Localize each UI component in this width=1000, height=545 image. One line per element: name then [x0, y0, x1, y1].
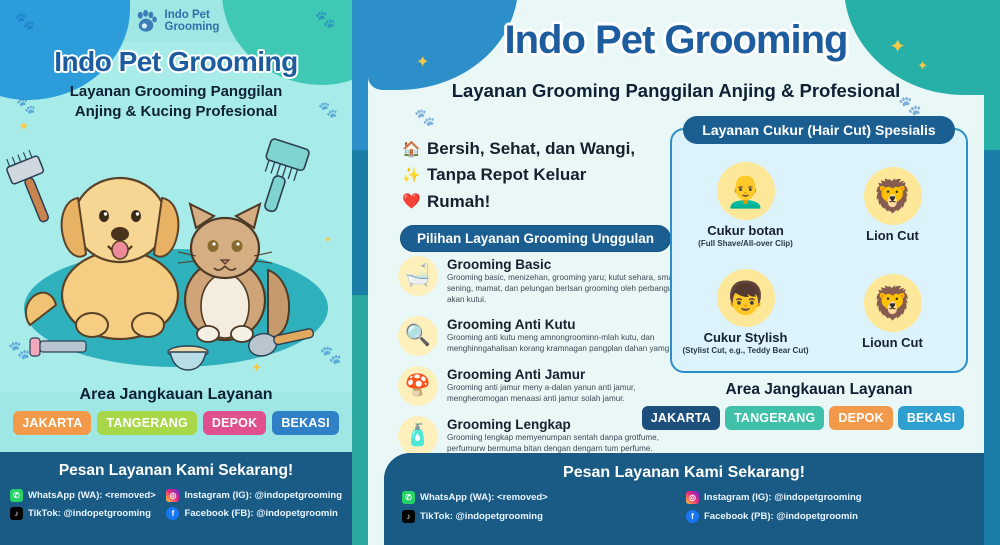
brand-logo: Indo Pet Grooming [0, 8, 352, 34]
poster-root: ✦ ✦ ✦ ✦ ✦ ✦ 🐾 🐾 🐾 🐾 🐾 🐾 Indo Pe [0, 0, 1000, 545]
tagline-text: Rumah! [427, 189, 490, 215]
services-pill-header: Pilihan Layanan Grooming Unggulan [400, 225, 671, 252]
service-description: Grooming anti jamur meny a-dalan yanun a… [447, 383, 698, 405]
tagline-row: ❤️Rumah! [402, 189, 702, 215]
area-badge-tangerang[interactable]: TANGERANG [725, 406, 824, 430]
lion-icon: 🦁 [864, 167, 922, 225]
social-link-label: Instagram (IG): @indopetgrooming [184, 490, 342, 501]
facebook-icon: f [686, 510, 699, 523]
area-badge-jakarta[interactable]: JAKARTA [642, 406, 720, 430]
haircut-item[interactable]: 🦁Lioun Cut [819, 259, 966, 366]
right-area-title: Area Jangkauan Layanan [670, 381, 968, 399]
service-description: Grooming anti kutu meng amnongroominn-ml… [447, 333, 698, 355]
area-badge-depok[interactable]: DEPOK [829, 406, 892, 430]
left-subtitle-line1: Layanan Grooming Panggilan [70, 83, 283, 100]
service-name: Grooming Basic [447, 257, 698, 272]
left-footer-title: Pesan Layanan Kami Sekarang! [0, 462, 352, 480]
instagram-icon: ◎ [166, 489, 179, 502]
right-tagline: 🏠Bersih, Sehat, dan Wangi,✨Tanpa Repot K… [402, 136, 702, 215]
tabby-cat-illustration [178, 204, 289, 342]
pets-illustration [0, 120, 352, 375]
social-link[interactable]: fFacebook (FB): @indopetgroomin [166, 507, 342, 520]
services-list: 🛁Grooming BasicGrooming basic, menizehan… [398, 256, 698, 466]
haircut-item-note: (Stylist Cut, e.g., Teddy Bear Cut) [682, 346, 808, 355]
right-social-links: ✆WhatsApp (WA): <removed>◎Instagram (IG)… [384, 491, 984, 523]
instagram-icon: ◎ [686, 491, 699, 504]
social-link[interactable]: fFacebook (PB): @indopetgroomin [686, 510, 966, 523]
tagline-row: 🏠Bersih, Sehat, dan Wangi, [402, 136, 702, 162]
tagline-text: Tanpa Repot Keluar [427, 162, 586, 188]
brand-logo-line2: Grooming [165, 21, 220, 33]
area-badge-depok[interactable]: DEPOK [203, 411, 266, 435]
social-link-label: Instagram (IG): @indopetgrooming [704, 492, 862, 503]
area-badge-bekasi[interactable]: BEKASI [272, 411, 338, 435]
house-icon: 🏠 [402, 138, 420, 161]
left-poster-panel: ✦ ✦ ✦ ✦ ✦ ✦ 🐾 🐾 🐾 🐾 🐾 🐾 Indo Pe [0, 0, 352, 545]
haircut-item-name: Cukur botan [707, 223, 784, 238]
haircut-item[interactable]: 👨‍🦲Cukur botan(Full Shave/All-over Clip) [672, 152, 819, 259]
social-link-label: Facebook (FB): @indopetgroomin [184, 508, 337, 519]
sparkles-icon: ✨ [402, 164, 420, 187]
pet-bowl-icon [168, 346, 208, 370]
service-name: Grooming Anti Jamur [447, 367, 698, 382]
whatsapp-icon: ✆ [10, 489, 23, 502]
area-badge-jakarta[interactable]: JAKARTA [13, 411, 91, 435]
paw-print-icon: 🐾 [414, 108, 435, 128]
tiktok-icon: ♪ [402, 510, 415, 523]
left-panel-title: Indo Pet Grooming [0, 46, 352, 78]
left-area-badges: JAKARTATANGERANGDEPOKBEKASI [0, 411, 352, 435]
right-poster-panel: ✦ ✦ ✦ 🐾 🐾 🐾 Indo Pet Grooming Layanan Gr… [352, 0, 1000, 545]
service-item[interactable]: 🍄Grooming Anti JamurGrooming anti jamur … [398, 366, 698, 406]
brush-icon [3, 148, 61, 227]
tiktok-icon: ♪ [10, 507, 23, 520]
social-link-label: TikTok: @indopetgrooming [420, 511, 543, 522]
service-description: Grooming lengkap memyenumpan sentah danp… [447, 433, 698, 455]
right-footer: Pesan Layanan Kami Sekarang! ✆WhatsApp (… [384, 453, 984, 545]
left-social-links: ✆WhatsApp (WA): <removed>◎Instagram (IG)… [0, 489, 352, 520]
whatsapp-icon: ✆ [402, 491, 415, 504]
haircut-item[interactable]: 👦Cukur Stylish(Stylist Cut, e.g., Teddy … [672, 259, 819, 366]
social-link-label: WhatsApp (WA): <removed> [420, 492, 548, 503]
brush-perfume-icon: 🧴 [398, 416, 438, 456]
social-link-label: WhatsApp (WA): <removed> [28, 490, 156, 501]
tagline-text: Bersih, Sehat, dan Wangi, [427, 136, 635, 162]
social-link[interactable]: ✆WhatsApp (WA): <removed> [10, 489, 162, 502]
left-footer: Pesan Layanan Kami Sekarang! ✆WhatsApp (… [0, 452, 352, 545]
haircut-item-name: Lioun Cut [862, 335, 923, 350]
right-content-card: ✦ ✦ ✦ 🐾 🐾 🐾 Indo Pet Grooming Layanan Gr… [368, 0, 984, 545]
tagline-row: ✨Tanpa Repot Keluar [402, 162, 702, 188]
heart-icon: ❤️ [402, 190, 420, 213]
service-item[interactable]: 🔍Grooming Anti KutuGrooming anti kutu me… [398, 316, 698, 356]
right-panel-subtitle: Layanan Grooming Panggilan Anjing & Prof… [368, 80, 984, 102]
area-badge-bekasi[interactable]: BEKASI [898, 406, 964, 430]
bald-head-icon: 👨‍🦲 [717, 162, 775, 220]
grooming-comb-icon [30, 338, 86, 356]
service-description: Grooming basic, menizehan, grooming yaru… [447, 273, 698, 306]
right-panel-title: Indo Pet Grooming [368, 18, 984, 63]
social-link-label: Facebook (PB): @indopetgroomin [704, 511, 858, 522]
social-link[interactable]: ♪TikTok: @indopetgrooming [10, 507, 162, 520]
bathtub-icon: 🛁 [398, 256, 438, 296]
service-name: Grooming Anti Kutu [447, 317, 698, 332]
right-footer-title: Pesan Layanan Kami Sekarang! [384, 464, 984, 482]
brand-logo-text: Indo Pet Grooming [165, 9, 220, 33]
social-link[interactable]: ♪TikTok: @indopetgrooming [402, 510, 682, 523]
haircut-specialist-card: Layanan Cukur (Hair Cut) Spesialis 👨‍🦲Cu… [670, 128, 968, 373]
mushroom-icon: 🍄 [398, 366, 438, 406]
right-area-badges: JAKARTATANGERANGDEPOKBEKASI [638, 406, 968, 430]
social-link[interactable]: ◎Instagram (IG): @indopetgrooming [686, 491, 966, 504]
brand-logo-line1: Indo Pet [165, 9, 210, 21]
social-link[interactable]: ◎Instagram (IG): @indopetgrooming [166, 489, 342, 502]
haircut-items-grid: 👨‍🦲Cukur botan(Full Shave/All-over Clip)… [672, 152, 966, 365]
haircut-item-note: (Full Shave/All-over Clip) [698, 239, 793, 248]
left-subtitle-line2: Anjing & Kucing Profesional [75, 103, 278, 120]
social-link-label: TikTok: @indopetgrooming [28, 508, 151, 519]
left-area-title: Area Jangkauan Layanan [0, 386, 352, 404]
magnifier-flea-icon: 🔍 [398, 316, 438, 356]
social-link[interactable]: ✆WhatsApp (WA): <removed> [402, 491, 682, 504]
haircut-item[interactable]: 🦁Lion Cut [819, 152, 966, 259]
facebook-icon: f [166, 507, 179, 520]
haircut-item-name: Cukur Stylish [704, 330, 788, 345]
service-item[interactable]: 🛁Grooming BasicGrooming basic, menizehan… [398, 256, 698, 306]
paw-print-icon [133, 8, 159, 34]
haircut-card-header: Layanan Cukur (Hair Cut) Spesialis [683, 116, 955, 144]
lion-cub-icon: 🦁 [864, 274, 922, 332]
haircut-item-name: Lion Cut [866, 228, 919, 243]
golden-retriever-dog-illustration [26, 178, 178, 339]
area-badge-tangerang[interactable]: TANGERANG [97, 411, 196, 435]
left-panel-subtitle: Layanan Grooming Panggilan Anjing & Kuci… [0, 82, 352, 123]
styled-head-icon: 👦 [717, 269, 775, 327]
